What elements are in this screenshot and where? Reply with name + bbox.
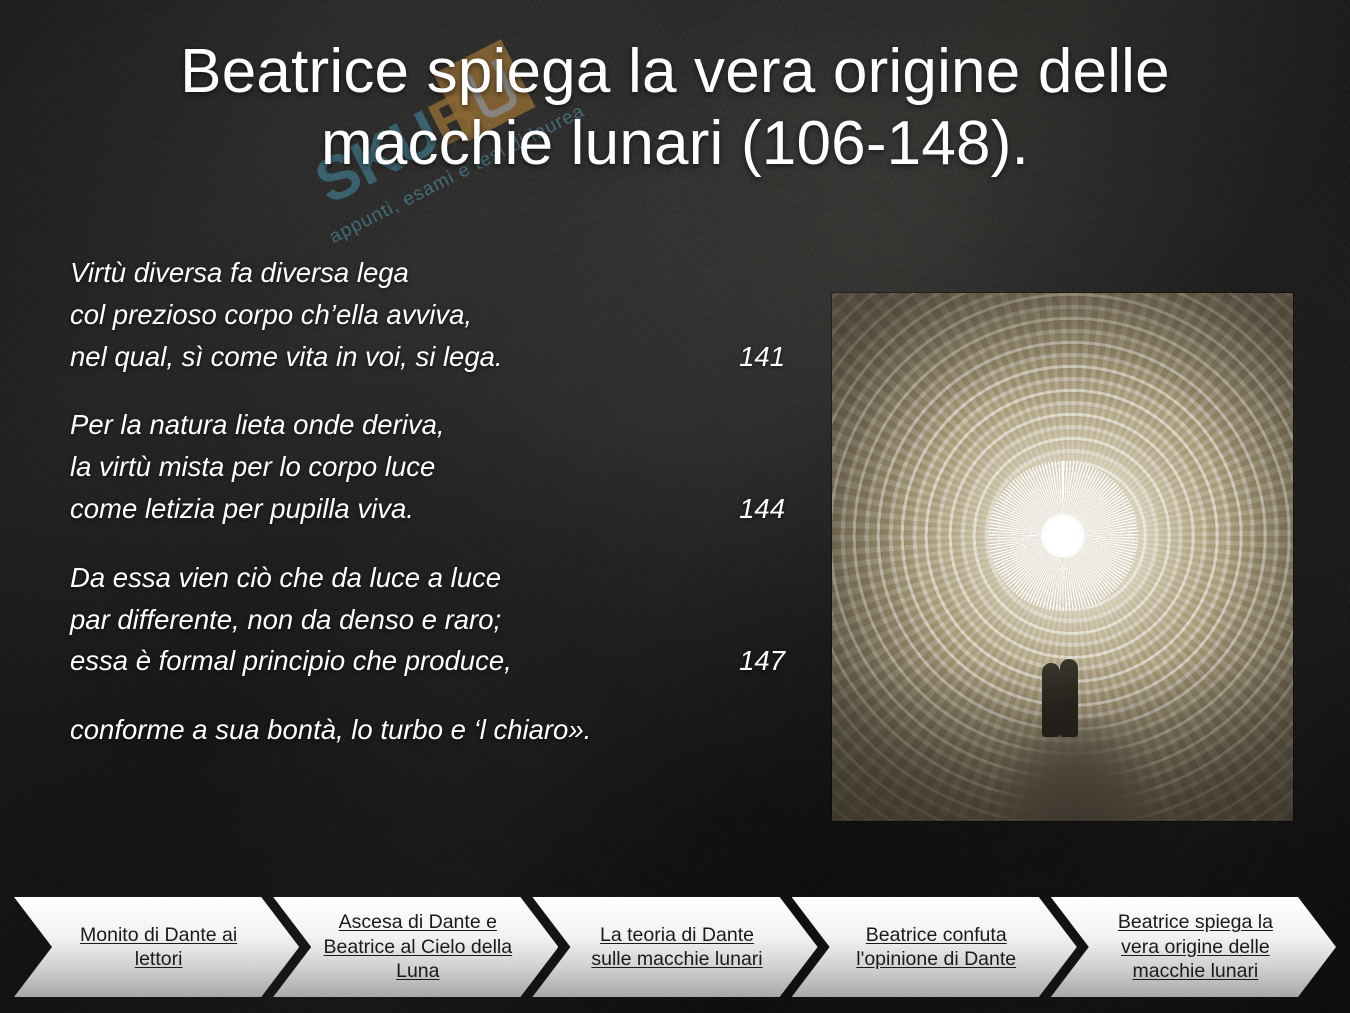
process-step-label: Beatrice confuta l'opinione di Dante (840, 923, 1033, 972)
poem-stanza: conforme a sua bontà, lo turbo e ‘l chia… (70, 709, 810, 751)
process-bar: Monito di Dante ai lettori Ascesa di Dan… (14, 897, 1336, 997)
poem-line: par differente, non da denso e raro; (70, 599, 810, 641)
poem-stanza: Virtù diversa fa diversa lega col prezio… (70, 252, 810, 377)
poem-stanza: Per la natura lieta onde deriva, la virt… (70, 404, 810, 529)
poem-line: col prezioso corpo ch’ella avviva, (70, 294, 810, 336)
poem-line: conforme a sua bontà, lo turbo e ‘l chia… (70, 709, 810, 751)
dore-paradiso-engraving (832, 293, 1293, 821)
process-step-3[interactable]: La teoria di Dante sulle macchie lunari (532, 897, 817, 997)
process-step-5[interactable]: Beatrice spiega la vera origine delle ma… (1051, 897, 1336, 997)
engraving-vignette (832, 293, 1293, 821)
process-step-label: Ascesa di Dante e Beatrice al Cielo dell… (321, 910, 514, 983)
process-step-label: Monito di Dante ai lettori (62, 923, 255, 972)
poem-line: Da essa vien ciò che da luce a luce (70, 557, 810, 599)
process-step-1[interactable]: Monito di Dante ai lettori (14, 897, 299, 997)
poem-line: la virtù mista per lo corpo luce (70, 446, 810, 488)
poem-line: Per la natura lieta onde deriva, (70, 404, 810, 446)
poem-line: Virtù diversa fa diversa lega (70, 252, 810, 294)
page-title: Beatrice spiega la vera origine delle ma… (60, 36, 1290, 180)
poem-line: come letizia per pupilla viva. (70, 488, 810, 530)
verse-number: 147 (739, 640, 785, 682)
poem-stanza: Da essa vien ciò che da luce a luce par … (70, 557, 810, 682)
process-step-2[interactable]: Ascesa di Dante e Beatrice al Cielo dell… (273, 897, 558, 997)
poem-body: Virtù diversa fa diversa lega col prezio… (70, 252, 810, 751)
verse-number: 141 (739, 336, 785, 378)
verse-number: 144 (739, 488, 785, 530)
poem-line: essa è formal principio che produce, (70, 640, 810, 682)
slide-canvas: SKUB appunti, esami e tesi di laurea Bea… (0, 0, 1350, 1013)
process-step-label: Beatrice spiega la vera origine delle ma… (1099, 910, 1292, 983)
poem-line: nel qual, sì come vita in voi, si lega. (70, 336, 810, 378)
process-step-4[interactable]: Beatrice confuta l'opinione di Dante (792, 897, 1077, 997)
process-step-label: La teoria di Dante sulle macchie lunari (580, 923, 773, 972)
